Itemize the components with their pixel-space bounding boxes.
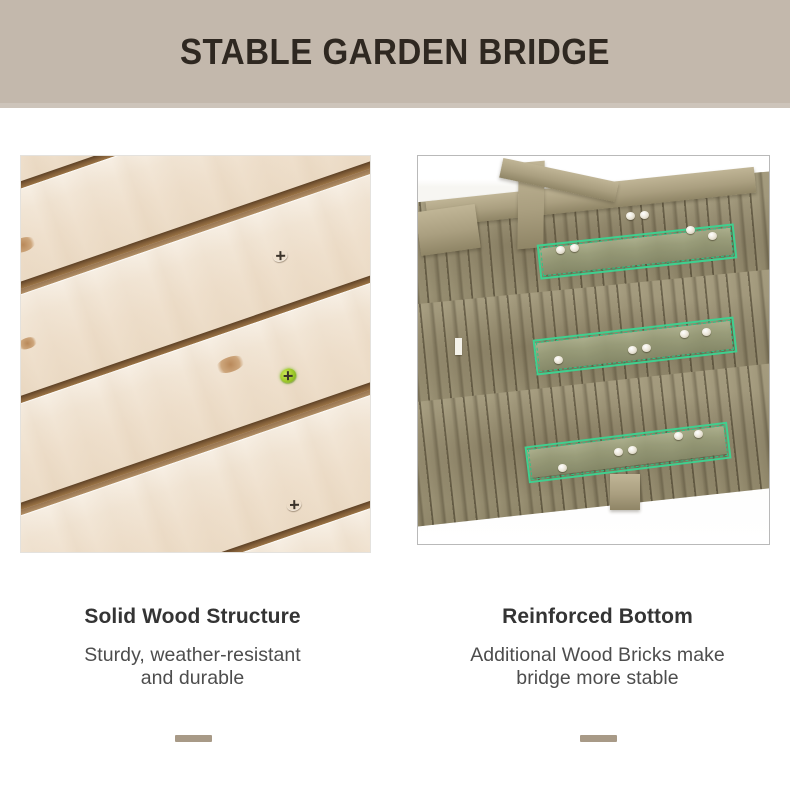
bridge-underside-photo: [418, 156, 769, 544]
bolt-head: [556, 246, 565, 254]
frame-end-block: [418, 204, 481, 256]
feature-description-line2: bridge more stable: [516, 667, 678, 689]
bolt-head: [642, 344, 651, 352]
product-tag: [455, 338, 462, 355]
feature-caption-solid-wood-structure: Solid Wood Structure Sturdy, weather-res…: [15, 558, 370, 690]
bolt-head: [674, 432, 683, 440]
bolt-head: [626, 212, 635, 220]
caption-divider: [175, 735, 212, 742]
bolt-head: [708, 232, 717, 240]
bolt-head: [702, 328, 711, 336]
bolt-head: [614, 448, 623, 456]
bolt-head: [694, 430, 703, 438]
support-foot-block: [610, 474, 640, 510]
feature-description-line2: and durable: [141, 667, 245, 689]
bolt-head: [640, 211, 649, 219]
feature-image-reinforced-bottom: [417, 155, 770, 545]
feature-description: Additional Wood Bricks make bridge more …: [420, 630, 775, 690]
feature-description-line1: Sturdy, weather-resistant: [84, 644, 301, 666]
feature-description: Sturdy, weather-resistant and durable: [15, 630, 370, 690]
feature-title: Reinforced Bottom: [420, 558, 775, 630]
bolt-head: [570, 244, 579, 252]
feature-images-row: [0, 108, 790, 558]
bolt-head: [680, 330, 689, 338]
feature-title: Solid Wood Structure: [15, 558, 370, 630]
bolt-head: [558, 464, 567, 472]
bolt-head: [628, 346, 637, 354]
feature-image-solid-wood-structure: [20, 155, 371, 553]
feature-description-line1: Additional Wood Bricks make: [470, 644, 725, 666]
page-title: STABLE GARDEN BRIDGE: [32, 0, 759, 103]
caption-divider: [580, 735, 617, 742]
wood-deck-photo: [20, 155, 371, 553]
bolt-head: [686, 226, 695, 234]
feature-caption-reinforced-bottom: Reinforced Bottom Additional Wood Bricks…: [420, 558, 775, 690]
bolt-head: [554, 356, 563, 364]
feature-captions-row: Solid Wood Structure Sturdy, weather-res…: [0, 558, 790, 792]
bolt-head: [628, 446, 637, 454]
